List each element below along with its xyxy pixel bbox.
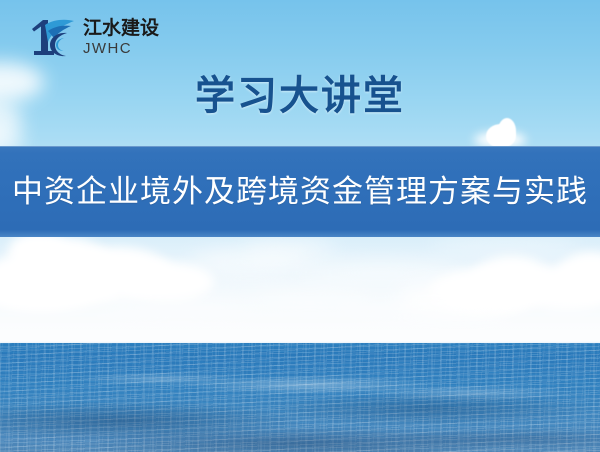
cloud-small [498, 118, 516, 144]
logo-company-name-cn: 江水建设 [83, 19, 159, 39]
logo-wordmark: 江水建设 JWHC [83, 19, 159, 57]
jwhc-wave-mark-icon [28, 16, 76, 60]
subtitle-banner: 中资企业境外及跨境资金管理方案与实践 [0, 146, 600, 237]
poster-banner-image: 江水建设 JWHC 学习大讲堂 中资企业境外及跨境资金管理方案与实践 [0, 0, 600, 452]
sea-background [0, 343, 600, 452]
page-title: 学习大讲堂 [0, 76, 600, 116]
horizon-haze [0, 223, 600, 343]
logo-company-name-en: JWHC [83, 40, 159, 57]
sea-highlight-overlay [0, 343, 600, 452]
company-logo: 江水建设 JWHC [28, 16, 159, 60]
subtitle-text: 中资企业境外及跨境资金管理方案与实践 [12, 176, 588, 207]
